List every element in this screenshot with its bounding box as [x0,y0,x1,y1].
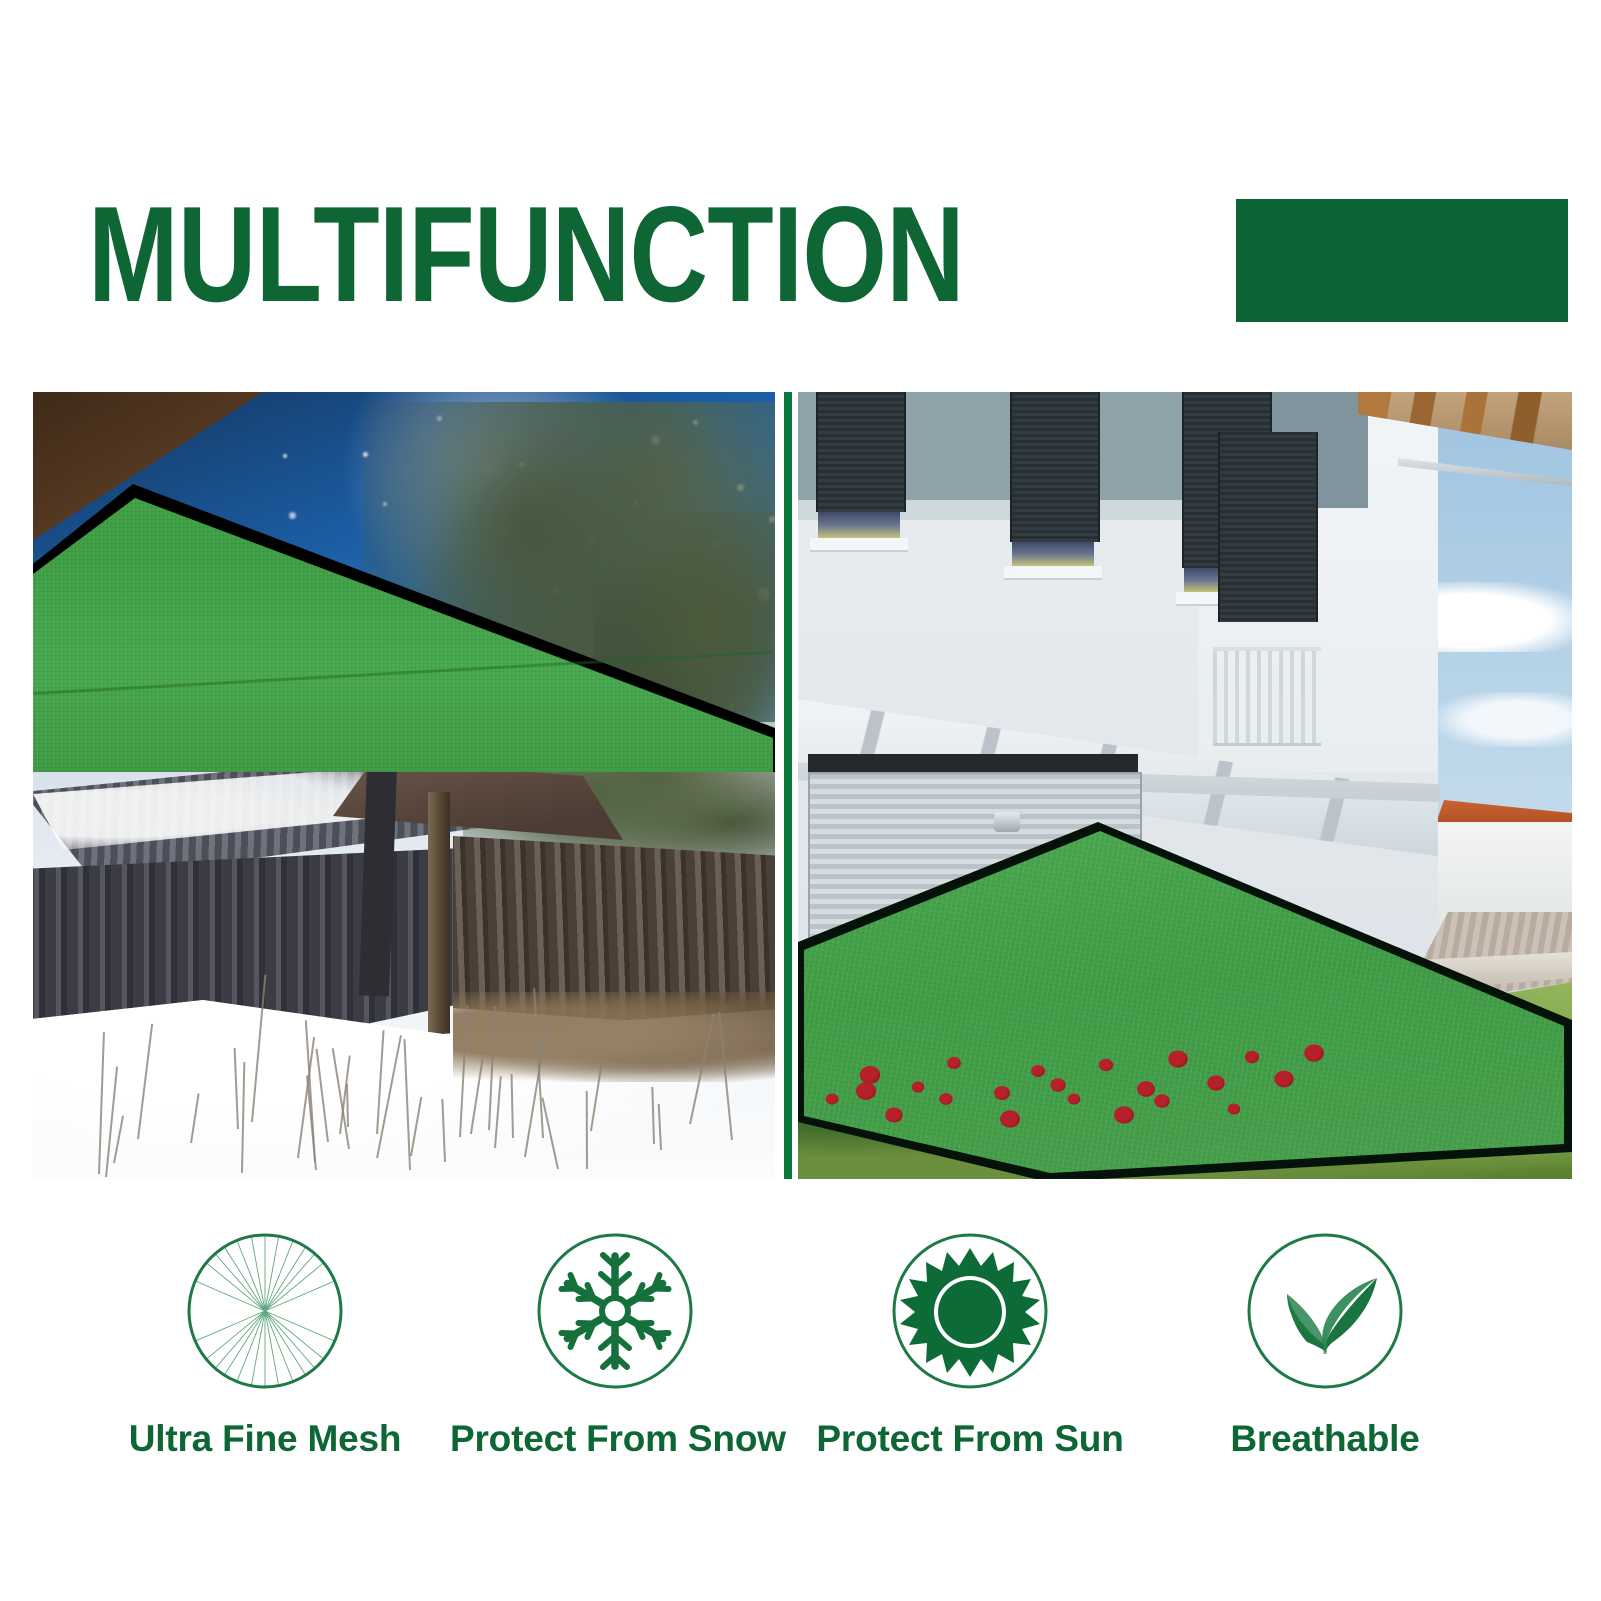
header-banner: MULTIFUNCTION [0,0,1601,370]
rose-flower [1137,1081,1155,1097]
window-sill [1004,566,1102,580]
photo-divider [784,392,792,1179]
feature-ultra-fine-mesh[interactable]: Ultra Fine Mesh [100,1200,430,1460]
rose-flower [1168,1050,1188,1067]
brand-badge [1236,199,1568,322]
rose-flower [1274,1071,1293,1088]
snowflake-icon [534,1230,696,1392]
rose-flower [1031,1065,1045,1077]
feature-label: Protect From Snow [450,1418,780,1460]
roller-shutter [816,392,906,512]
rose-flower [1114,1106,1134,1123]
feature-label: Ultra Fine Mesh [100,1418,430,1460]
feature-breathable[interactable]: Breathable [1160,1200,1490,1460]
roller-shutter [1010,392,1100,542]
rose-flower [1099,1059,1113,1071]
feature-label: Breathable [1160,1418,1490,1460]
rose-flower [860,1066,880,1084]
rose-flower [1050,1078,1065,1091]
rose-flower [1068,1094,1080,1105]
rose-flower [994,1086,1010,1100]
window-glass [818,512,900,538]
rose-flower [885,1107,902,1122]
shade-sail-winter-photo [33,392,775,1179]
rose-flower [1245,1051,1259,1063]
dry-brush [453,992,775,1082]
balcony-railing [1213,647,1321,746]
window-glass [1012,542,1094,566]
sun-icon [889,1230,1051,1392]
snowflake-particle [289,512,296,519]
photo-gallery [33,392,1572,1179]
feature-protect-from-snow[interactable]: Protect From Snow [450,1200,780,1460]
rose-flower [947,1057,961,1069]
page-title: MULTIFUNCTION [88,186,964,322]
rose-flower [1228,1104,1240,1115]
feature-protect-from-sun[interactable]: Protect From Sun [805,1200,1135,1460]
fence-post [428,792,450,1042]
rose-flower [1000,1110,1020,1127]
rose-flower [856,1082,876,1100]
roller-shutter-balcony [1218,432,1318,622]
window-sill [810,538,908,552]
feature-row: Ultra Fine Mesh [0,1200,1601,1530]
cloud [1438,692,1572,747]
bare-twig [586,1091,588,1169]
rose-flower [1154,1094,1169,1107]
snowflake-particle [283,454,287,458]
rose-flower [1304,1044,1324,1061]
rose-flower [1207,1075,1224,1090]
rose-flower [939,1093,952,1105]
awning-bracket [994,812,1020,832]
mesh-perspective-icon [184,1230,346,1392]
rose-flower [826,1093,839,1104]
awning-house-photo [798,392,1572,1179]
rose-flower [912,1082,924,1093]
feature-label: Protect From Sun [805,1418,1135,1460]
leaves-icon [1244,1230,1406,1392]
